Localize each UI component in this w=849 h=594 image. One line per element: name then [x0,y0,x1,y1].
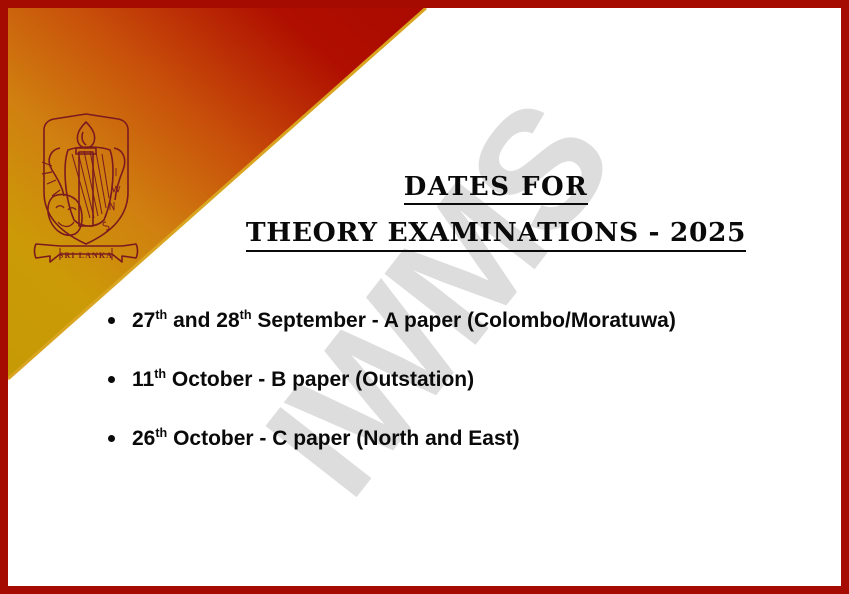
exam-date-text: 11th October - B paper (Outstation) [132,368,474,391]
exam-dates-poster: SRI LANKA IWMS Dates For Theory Examinat… [0,0,849,594]
ordinal-suffix: th [154,367,166,381]
exam-dates-list: 27th and 28th September - A paper (Colom… [100,308,820,452]
ordinal-suffix: th [240,308,252,322]
bullet-dot-icon [108,435,115,442]
crest-flame-inner [82,132,86,145]
page-title: Dates For Theory Examinations - 2025 [158,172,834,252]
ordinal-suffix: th [155,426,167,440]
exam-date-text: 27th and 28th September - A paper (Colom… [132,309,676,332]
poster-page-surface: SRI LANKA IWMS Dates For Theory Examinat… [8,8,841,586]
crest-mask-mouth [58,222,74,227]
crest-theatre-mask [48,194,82,235]
headline-line-2: Theory Examinations - 2025 [246,217,746,252]
crest-banner-text: SRI LANKA [59,251,113,260]
headline-line-1-row: Dates For [158,172,834,205]
list-item: 27th and 28th September - A paper (Colom… [100,308,820,334]
exam-date-text: 26th October - C paper (North and East) [132,427,520,450]
institute-crest: SRI LANKA [30,104,142,266]
bullet-dot-icon [108,317,115,324]
list-item: 11th October - B paper (Outstation) [100,367,820,393]
crest-mask-eye-right [68,208,76,210]
headline-line-1: Dates For [404,172,589,205]
ordinal-suffix: th [155,308,167,322]
bullet-dot-icon [108,376,115,383]
watermark: IWMS [8,8,841,586]
headline-line-2-row: Theory Examinations - 2025 [158,217,834,252]
diagonal-corner-banner [8,8,841,586]
list-item: 26th October - C paper (North and East) [100,426,820,452]
watermark-text: IWMS [230,71,645,528]
crest-mask-eye-left [56,206,64,208]
